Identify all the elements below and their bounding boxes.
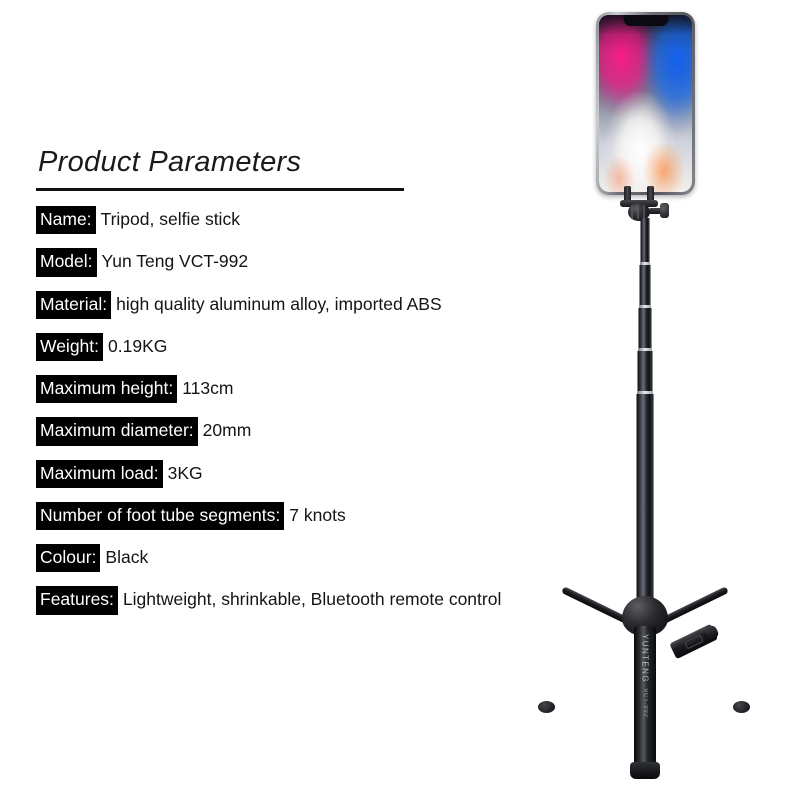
spec-label: Maximum diameter: [36,417,198,445]
product-photo-tripod-selfie-stick: YUNTENG VCT-992 [505,0,785,785]
spec-value: high quality aluminum alloy, imported AB… [111,293,442,316]
spec-value: Black [100,546,148,569]
tripod-foot-left [538,701,555,713]
telescoping-pole [505,218,785,608]
pole-segment-2 [640,265,651,307]
ball-head-ridge [637,205,639,219]
tripod-foot-right [733,701,750,713]
tripod-center-foot [630,762,660,779]
spec-value: 0.19KG [103,335,167,358]
pole-segment-5 [637,394,654,608]
pole-segment-1 [641,218,650,264]
tripod-base: YUNTENG VCT-992 [505,596,785,785]
model-label: VCT-992 [642,688,648,717]
brand-label: YUNTENG [641,634,650,683]
spec-label: Maximum height: [36,375,177,403]
spec-value: 7 knots [284,504,345,527]
ball-head-ridge [631,205,633,219]
title-divider [36,188,404,191]
spec-label: Material: [36,291,111,319]
spec-value: Tripod, selfie stick [96,208,240,231]
spec-label: Colour: [36,544,100,572]
spec-label: Model: [36,248,97,276]
spec-label: Name: [36,206,96,234]
spec-label: Weight: [36,333,103,361]
phone-screen [599,15,692,192]
pole-segment-3 [639,308,652,350]
spec-value: 113cm [177,377,233,400]
spec-value: 3KG [163,462,203,485]
spec-label: Number of foot tube segments: [36,502,284,530]
product-parameters-page: Product Parameters Name: Tripod, selfie … [0,0,785,785]
tightening-knob [660,203,669,218]
phone-clamp-mount [615,186,677,222]
spec-label: Maximum load: [36,460,163,488]
spec-label: Features: [36,586,118,614]
spec-value: Lightweight, shrinkable, Bluetooth remot… [118,588,501,611]
smartphone [596,12,695,195]
ball-head-ridge [643,205,645,219]
pole-segment-4 [638,351,653,393]
bluetooth-remote-control[interactable] [669,624,718,659]
spec-value: Yun Teng VCT-992 [97,250,249,273]
spec-value: 20mm [198,419,252,442]
wallpaper-top-shade [599,15,692,192]
phone-notch [623,15,668,26]
